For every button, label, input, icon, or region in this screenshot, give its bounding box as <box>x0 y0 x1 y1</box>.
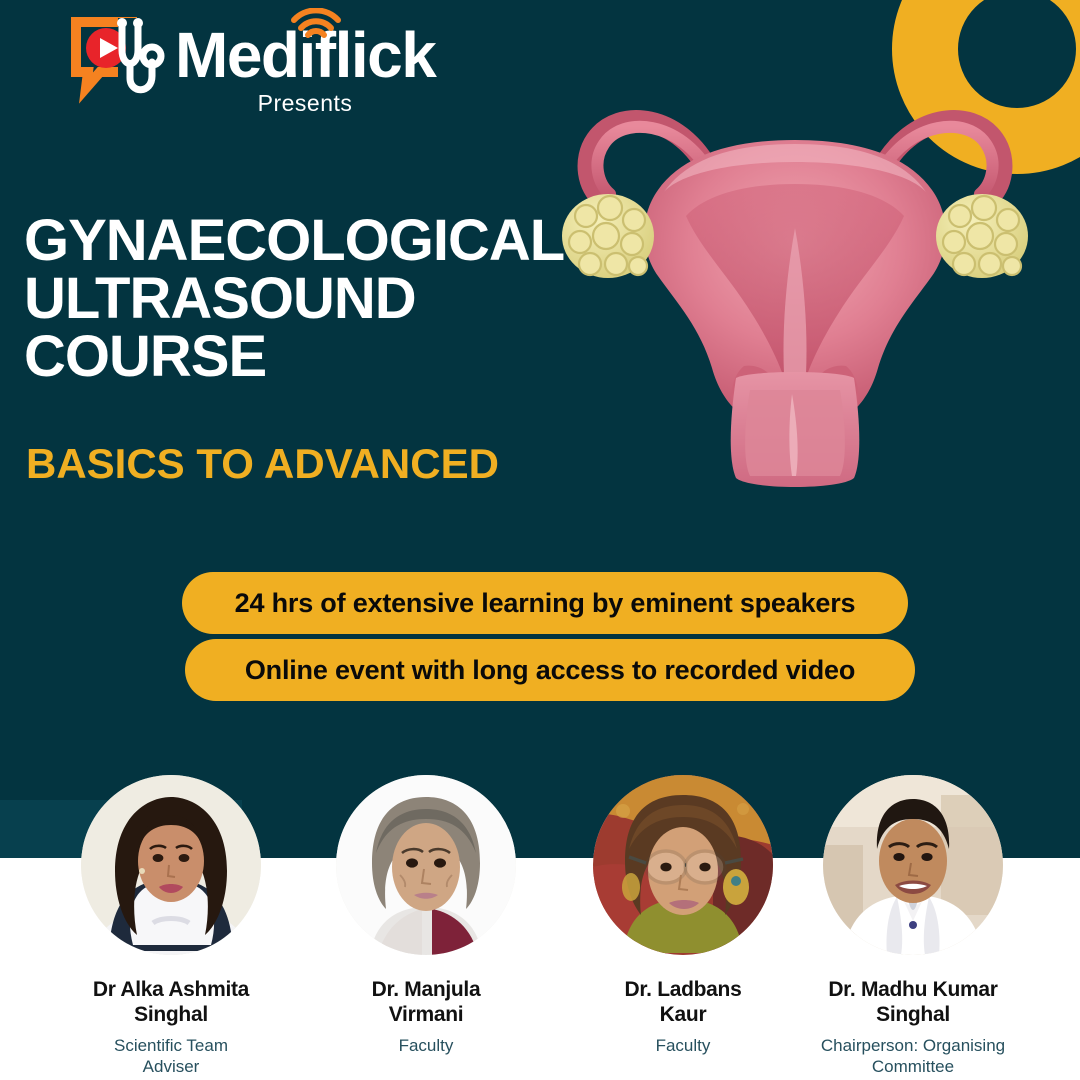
speaker-card-4: Dr. Madhu Kumar Singhal Chairperson: Org… <box>785 775 1041 1077</box>
logo-mark-icon <box>70 16 168 106</box>
title-line-1: Gynaecological <box>24 212 604 270</box>
ovary-left <box>562 194 654 278</box>
speaker-role: Faculty <box>298 1035 554 1056</box>
speaker-name: Dr. Manjula Virmani <box>298 977 554 1027</box>
speaker-role: Scientific Team Adviser <box>43 1035 299 1077</box>
speaker-card-2: Dr. Manjula Virmani Faculty <box>298 775 554 1056</box>
avatar-alka-ashmita-singhal <box>81 775 261 955</box>
brand-logo: Mediflick Presents <box>70 10 470 120</box>
speaker-role: Chairperson: Organising Committee <box>785 1035 1041 1077</box>
feature-badge-hours: 24 hrs of extensive learning by eminent … <box>182 572 908 634</box>
presents-label: Presents <box>185 90 425 117</box>
uterus-anatomy-illustration <box>560 78 1030 490</box>
page-title: Gynaecological Ultrasound Course <box>24 212 604 386</box>
speaker-card-1: Dr Alka Ashmita Singhal Scientific Team … <box>43 775 299 1077</box>
speakers-row: Dr Alka Ashmita Singhal Scientific Team … <box>0 775 1080 1080</box>
speaker-name: Dr. Madhu Kumar Singhal <box>785 977 1041 1027</box>
avatar-manjula-virmani <box>336 775 516 955</box>
course-promo-poster: Mediflick Presents Gynaecological Ultras… <box>0 0 1080 1080</box>
page-subtitle: Basics to Advanced <box>26 440 499 488</box>
avatar-ladbans-kaur <box>593 775 773 955</box>
speaker-role: Faculty <box>555 1035 811 1056</box>
title-line-2: Ultrasound <box>24 270 604 328</box>
speaker-name: Dr Alka Ashmita Singhal <box>43 977 299 1027</box>
avatar-madhu-kumar-singhal <box>823 775 1003 955</box>
feature-badge-access: Online event with long access to recorde… <box>185 639 915 701</box>
wifi-icon <box>288 8 344 42</box>
speaker-card-3: Dr. Ladbans Kaur Faculty <box>555 775 811 1056</box>
ovary-right <box>936 194 1028 278</box>
speaker-name: Dr. Ladbans Kaur <box>555 977 811 1027</box>
title-line-3: Course <box>24 328 604 386</box>
